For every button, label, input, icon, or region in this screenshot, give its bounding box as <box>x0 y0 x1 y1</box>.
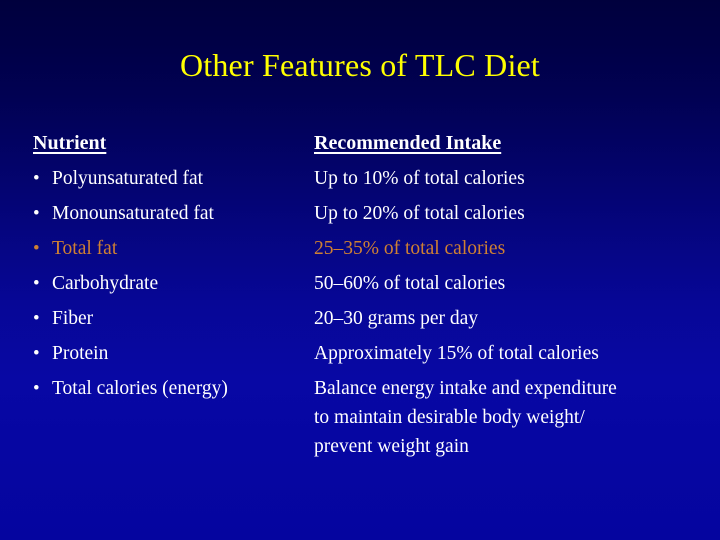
nutrient-label: Monounsaturated fat <box>52 199 214 228</box>
intake-line: 25–35% of total calories <box>314 234 707 263</box>
column-header-recommended-intake: Recommended Intake <box>314 132 501 154</box>
table-row: •Total fat25–35% of total calories <box>31 234 707 263</box>
bullet-icon: • <box>31 339 52 368</box>
slide-canvas: Other Features of TLC Diet Nutrient Reco… <box>0 0 720 540</box>
cell-recommended-intake: Approximately 15% of total calories <box>314 339 707 368</box>
table-row: •Monounsaturated fatUp to 20% of total c… <box>31 199 707 228</box>
cell-nutrient: •Total fat <box>31 234 314 263</box>
cell-nutrient: •Monounsaturated fat <box>31 199 314 228</box>
cell-nutrient: •Polyunsaturated fat <box>31 164 314 193</box>
nutrient-label: Carbohydrate <box>52 269 158 298</box>
cell-recommended-intake: 50–60% of total calories <box>314 269 707 298</box>
intake-line: 20–30 grams per day <box>314 304 707 333</box>
bullet-icon: • <box>31 199 52 228</box>
cell-nutrient: •Fiber <box>31 304 314 333</box>
intake-line: to maintain desirable body weight/ <box>314 403 707 432</box>
nutrient-label: Protein <box>52 339 108 368</box>
intake-line: Up to 20% of total calories <box>314 199 707 228</box>
table-row: •ProteinApproximately 15% of total calor… <box>31 339 707 368</box>
bullet-icon: • <box>31 234 52 263</box>
nutrient-label: Total calories (energy) <box>52 374 228 403</box>
table-row: •Total calories (energy)Balance energy i… <box>31 374 707 461</box>
intake-line: 50–60% of total calories <box>314 269 707 298</box>
bullet-icon: • <box>31 164 52 193</box>
table-rows-container: •Polyunsaturated fatUp to 10% of total c… <box>31 164 707 461</box>
table-row: •Fiber20–30 grams per day <box>31 304 707 333</box>
nutrient-label: Fiber <box>52 304 93 333</box>
cell-nutrient: •Total calories (energy) <box>31 374 314 403</box>
cell-recommended-intake: Up to 20% of total calories <box>314 199 707 228</box>
slide-title: Other Features of TLC Diet <box>0 46 720 84</box>
column-header-nutrient: Nutrient <box>31 131 106 155</box>
cell-recommended-intake: Balance energy intake and expenditureto … <box>314 374 707 461</box>
intake-line: Up to 10% of total calories <box>314 164 707 193</box>
intake-line: Approximately 15% of total calories <box>314 339 707 368</box>
nutrient-label: Polyunsaturated fat <box>52 164 203 193</box>
intake-line: Balance energy intake and expenditure <box>314 374 707 403</box>
cell-recommended-intake: 20–30 grams per day <box>314 304 707 333</box>
bullet-icon: • <box>31 269 52 298</box>
cell-nutrient: •Carbohydrate <box>31 269 314 298</box>
table-header-row: Nutrient Recommended Intake <box>31 131 707 155</box>
header-cell-intake: Recommended Intake <box>314 131 707 155</box>
cell-recommended-intake: Up to 10% of total calories <box>314 164 707 193</box>
nutrient-table: Nutrient Recommended Intake •Polyunsatur… <box>31 131 707 467</box>
bullet-icon: • <box>31 374 52 403</box>
intake-line: prevent weight gain <box>314 432 707 461</box>
cell-nutrient: •Protein <box>31 339 314 368</box>
bullet-icon: • <box>31 304 52 333</box>
header-cell-nutrient: Nutrient <box>31 131 314 155</box>
table-row: •Carbohydrate50–60% of total calories <box>31 269 707 298</box>
cell-recommended-intake: 25–35% of total calories <box>314 234 707 263</box>
nutrient-label: Total fat <box>52 234 117 263</box>
table-row: •Polyunsaturated fatUp to 10% of total c… <box>31 164 707 193</box>
